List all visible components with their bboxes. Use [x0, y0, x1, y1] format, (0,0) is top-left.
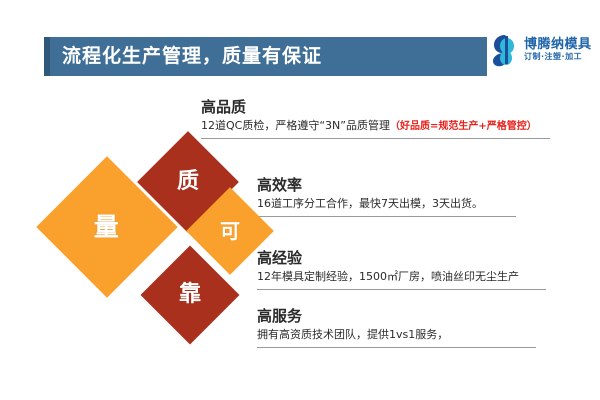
- slide-canvas: 流程化生产管理，质量有保证 博腾纳模具 订制·注塑·加工 量 质 可 靠 高品质…: [0, 0, 600, 400]
- butterfly-logo-icon: [492, 33, 520, 67]
- diamond-kao-label: 靠: [179, 284, 201, 306]
- diamond-ke-label: 可: [220, 221, 240, 241]
- feature-block-experience: 高经验 12年模具定制经验，1500㎡厂房，喷油丝印无尘生产: [257, 249, 546, 290]
- logo-text-group: 博腾纳模具 订制·注塑·加工: [524, 38, 592, 63]
- feature-desc-quality-highlight: （好品质=规范生产+严格管控）: [390, 121, 537, 132]
- feature-desc-quality: 12道QC质检，严格遵守“3N”品质管理（好品质=规范生产+严格管控）: [201, 119, 550, 137]
- feature-desc-efficiency: 16道工序分工合作，最快7天出模，3天出货。: [257, 197, 516, 215]
- feature-block-efficiency: 高效率 16道工序分工合作，最快7天出模，3天出货。: [257, 176, 516, 217]
- feature-desc-quality-main: 12道QC质检，严格遵守“3N”品质管理: [201, 119, 390, 132]
- logo-tagline: 订制·注塑·加工: [524, 52, 592, 62]
- feature-rule-service: [257, 347, 536, 348]
- feature-rule-quality: [201, 138, 550, 139]
- feature-block-quality: 高品质 12道QC质检，严格遵守“3N”品质管理（好品质=规范生产+严格管控）: [201, 98, 550, 139]
- logo-company-name: 博腾纳模具: [524, 38, 592, 52]
- feature-heading-service: 高服务: [257, 307, 536, 325]
- page-title: 流程化生产管理，质量有保证: [50, 47, 322, 66]
- feature-desc-experience: 12年模具定制经验，1500㎡厂房，喷油丝印无尘生产: [257, 270, 546, 288]
- feature-heading-experience: 高经验: [257, 249, 546, 267]
- feature-rule-experience: [257, 289, 546, 290]
- company-logo: 博腾纳模具 订制·注塑·加工: [492, 33, 592, 67]
- feature-heading-efficiency: 高效率: [257, 176, 516, 194]
- header-bar: 流程化生产管理，质量有保证: [44, 37, 487, 76]
- diamond-liang-label: 量: [94, 214, 119, 239]
- feature-block-service: 高服务 拥有高资质技术团队，提供1vs1服务，: [257, 307, 536, 348]
- feature-rule-efficiency: [257, 216, 516, 217]
- diamond-zhi-label: 质: [177, 171, 199, 193]
- feature-heading-quality: 高品质: [201, 98, 550, 116]
- feature-desc-service: 拥有高资质技术团队，提供1vs1服务，: [257, 328, 536, 346]
